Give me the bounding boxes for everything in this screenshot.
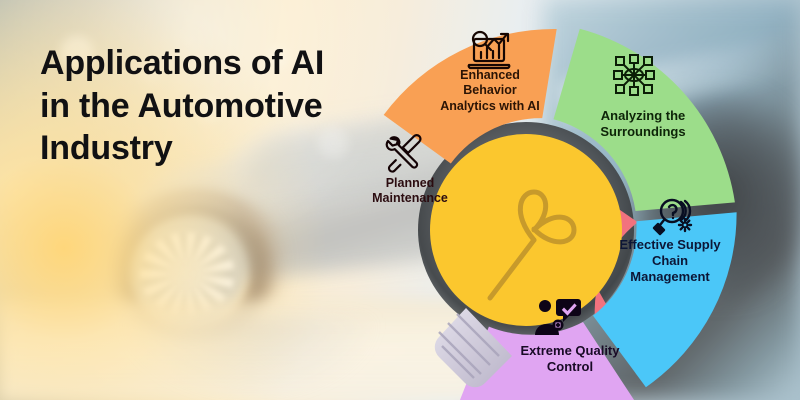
ai-applications-wheel [338, 0, 782, 400]
page-title: Applications of AI in the Automotive Ind… [40, 42, 370, 170]
title-line-3: Industry [40, 127, 370, 170]
title-line-1: Applications of AI [40, 42, 370, 85]
title-line-2: in the Automotive [40, 85, 370, 128]
infographic-canvas: Applications of AI in the Automotive Ind… [0, 0, 800, 400]
